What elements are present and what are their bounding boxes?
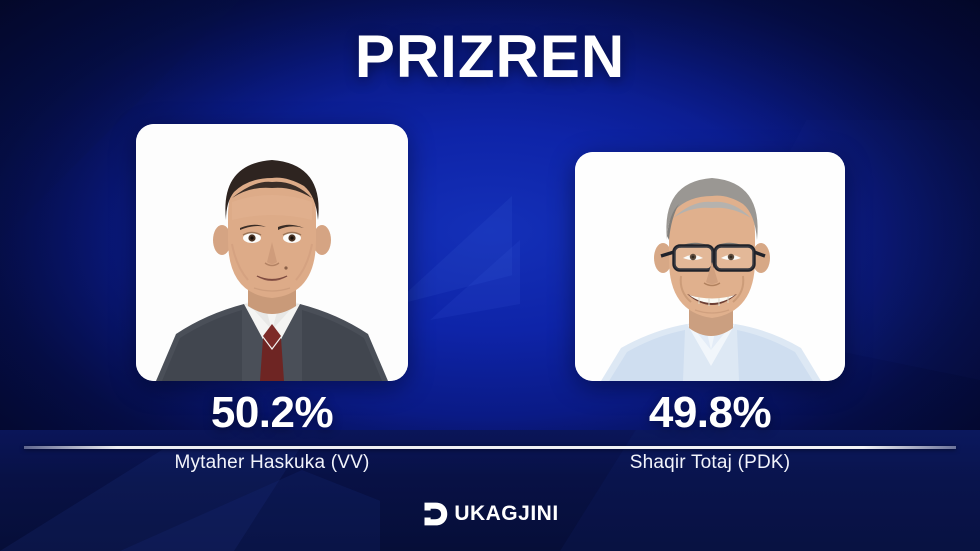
logo-text: UKAGJINI [454, 502, 558, 526]
channel-logo: UKAGJINI [0, 500, 980, 528]
portrait-left-image [136, 124, 408, 381]
broadcast-graphic: PRIZREN [0, 0, 980, 551]
page-title: PRIZREN [0, 22, 980, 91]
portrait-right-image [575, 152, 845, 381]
portrait-right [575, 152, 845, 381]
portrait-left [136, 124, 408, 381]
percent-left: 50.2% [122, 388, 422, 438]
candidate-name-right: Shaqir Totaj (PDK) [540, 452, 880, 474]
dukagjini-d-icon [421, 500, 449, 528]
divider-line [24, 446, 956, 449]
percent-right: 49.8% [560, 388, 860, 438]
candidate-name-left: Mytaher Haskuka (VV) [102, 452, 442, 474]
